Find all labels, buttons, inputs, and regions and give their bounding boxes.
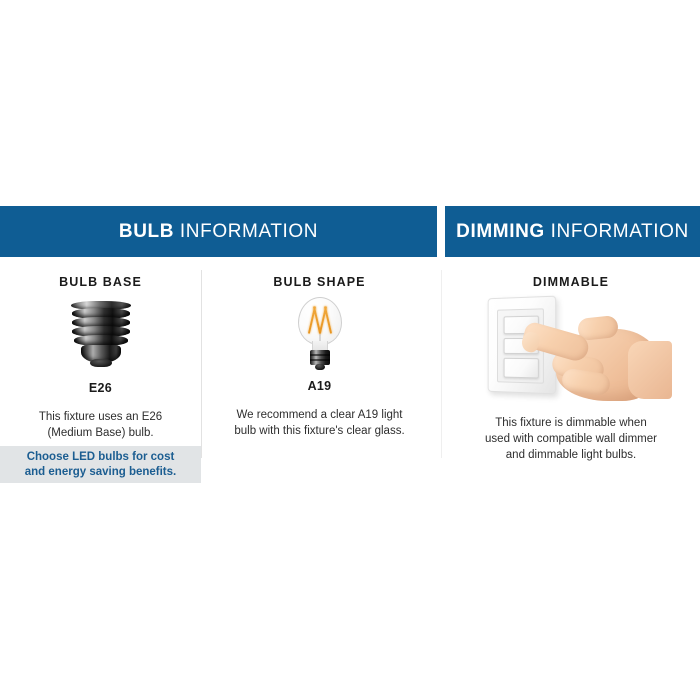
bulb-shape-description-line2: bulb with this fixture's clear glass. — [224, 423, 416, 439]
dimming-header-light: INFORMATION — [545, 221, 689, 242]
dimmable-description: This fixture is dimmable when used with … — [468, 399, 674, 463]
bulb-base-description: This fixture uses an E26 (Medium Base) b… — [17, 395, 185, 441]
bulb-base-description-line2: (Medium Base) bulb. — [17, 425, 185, 441]
bulb-base-description-line1: This fixture uses an E26 — [17, 409, 185, 425]
bulb-shape-description-line1: We recommend a clear A19 light — [224, 407, 416, 423]
wall-dimmer-switch-with-hand-icon — [476, 291, 666, 399]
hand-icon — [522, 313, 664, 399]
dimmable-column: DIMMABLE — [442, 257, 700, 463]
bulb-shape-caption: A19 — [202, 379, 437, 393]
bulb-information-header: BULB INFORMATION — [0, 206, 437, 257]
dimming-information-header: DIMMING INFORMATION — [445, 206, 700, 257]
section-headers: BULB INFORMATION DIMMING INFORMATION — [0, 206, 700, 257]
bulb-shape-title: BULB SHAPE — [202, 275, 437, 289]
bulb-shape-description: We recommend a clear A19 light bulb with… — [224, 393, 416, 439]
bulb-shape-column: BULB SHAPE A19 We recommend a clear A19 … — [202, 257, 437, 439]
dimmable-title: DIMMABLE — [442, 275, 700, 289]
led-callout-line1: Choose LED bulbs for cost — [12, 450, 190, 465]
bulb-header-strong: BULB — [119, 221, 174, 242]
e26-screw-base-icon — [41, 297, 161, 375]
bulb-base-title: BULB BASE — [0, 275, 201, 289]
bulb-information-title: BULB INFORMATION — [119, 221, 318, 243]
dimming-information-title: DIMMING INFORMATION — [456, 221, 689, 243]
led-callout-box: Choose LED bulbs for cost and energy sav… — [0, 446, 201, 483]
led-callout-line2: and energy saving benefits. — [12, 465, 190, 480]
dimming-header-strong: DIMMING — [456, 221, 545, 242]
dimmable-description-line1: This fixture is dimmable when — [468, 415, 674, 431]
a19-bulb-icon — [260, 295, 380, 373]
bulb-base-caption: E26 — [0, 381, 201, 395]
dimmable-description-line3: and dimmable light bulbs. — [468, 447, 674, 463]
led-callout-text: Choose LED bulbs for cost and energy sav… — [12, 450, 190, 480]
content-row: BULB BASE E26 This fixture uses an E26 (… — [0, 257, 700, 497]
bulb-header-light: INFORMATION — [174, 221, 318, 242]
page-root: BULB INFORMATION DIMMING INFORMATION BUL… — [0, 0, 700, 700]
bulb-base-column: BULB BASE E26 This fixture uses an E26 (… — [0, 257, 201, 441]
dimmable-description-line2: used with compatible wall dimmer — [468, 431, 674, 447]
header-gap — [437, 206, 445, 257]
